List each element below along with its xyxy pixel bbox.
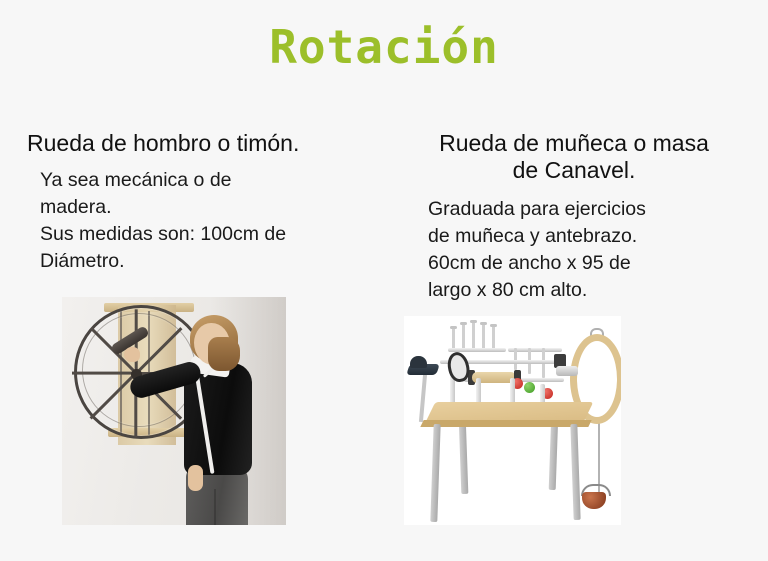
pin-peg-top xyxy=(450,326,457,329)
person-hair-back xyxy=(208,337,240,371)
pin-peg-top xyxy=(490,324,497,327)
pin-peg-top xyxy=(460,322,467,325)
hanging-peg xyxy=(514,348,517,370)
pin-peg xyxy=(462,324,465,350)
body-shoulder-wheel: Ya sea mecánica o de madera. Sus medidas… xyxy=(22,157,382,275)
table-top-edge xyxy=(420,420,591,427)
pin-peg xyxy=(482,324,485,350)
column-left: Rueda de hombro o timón. Ya sea mecánica… xyxy=(22,130,382,275)
pin-peg-top xyxy=(480,322,487,325)
forearm-rest-cap xyxy=(410,356,427,368)
image-canavel-table xyxy=(404,316,621,525)
image-shoulder-wheel xyxy=(62,297,286,525)
wheel-axle xyxy=(556,366,578,376)
pin-peg xyxy=(452,328,455,350)
body-canavel-wheel: Graduada para ejercicios de muñeca y ant… xyxy=(400,184,748,304)
person-hand-resting xyxy=(188,465,203,491)
pin-peg-top xyxy=(470,320,477,323)
pin-peg xyxy=(472,322,475,350)
person-leg-split xyxy=(214,489,216,525)
person-hand-on-grip xyxy=(124,347,140,362)
exercise-ball-green xyxy=(524,382,535,393)
pin-peg xyxy=(492,326,495,350)
page-title: Rotación xyxy=(0,22,768,73)
heading-shoulder-wheel: Rueda de hombro o timón. xyxy=(22,130,382,157)
column-right: Rueda de muñeca o masa de Canavel. Gradu… xyxy=(400,130,748,304)
slide-root: Rotación Rueda de hombro o timón. Ya sea… xyxy=(0,0,768,561)
heading-canavel-wheel: Rueda de muñeca o masa de Canavel. xyxy=(400,130,748,184)
wheel-spoke xyxy=(72,372,136,375)
